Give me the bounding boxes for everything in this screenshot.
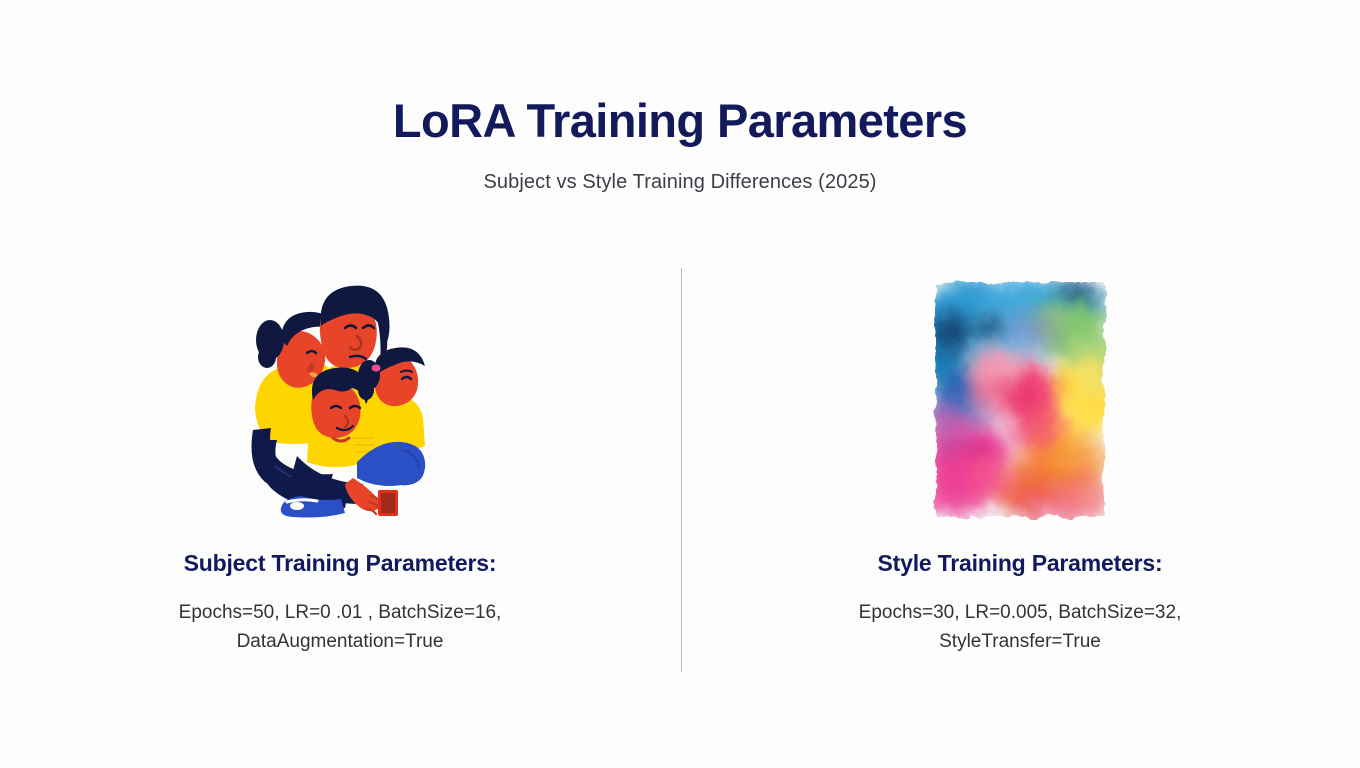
subject-parameters: Epochs=50, LR=0 .01 , BatchSize=16, Data… [125,598,555,657]
column-style: Style Training Parameters: Epochs=30, LR… [680,262,1360,682]
column-subject: Subject Training Parameters: Epochs=50, … [0,262,680,682]
page-title: LoRA Training Parameters [0,95,1360,148]
watercolor-swatch-image [933,280,1107,520]
style-figure-container [933,262,1107,520]
comparison-columns: Subject Training Parameters: Epochs=50, … [0,262,1360,682]
people-group-illustration [245,280,435,520]
page-subtitle: Subject vs Style Training Differences (2… [0,170,1360,194]
slide-header: LoRA Training Parameters Subject vs Styl… [0,95,1360,194]
slide-root: LoRA Training Parameters Subject vs Styl… [0,0,1360,768]
style-heading: Style Training Parameters: [878,550,1163,577]
column-divider [681,268,682,672]
watercolor-wrapper [933,280,1107,520]
subject-heading: Subject Training Parameters: [184,550,497,577]
style-parameters: Epochs=30, LR=0.005, BatchSize=32, Style… [805,598,1235,657]
subject-figure-container [245,262,435,520]
